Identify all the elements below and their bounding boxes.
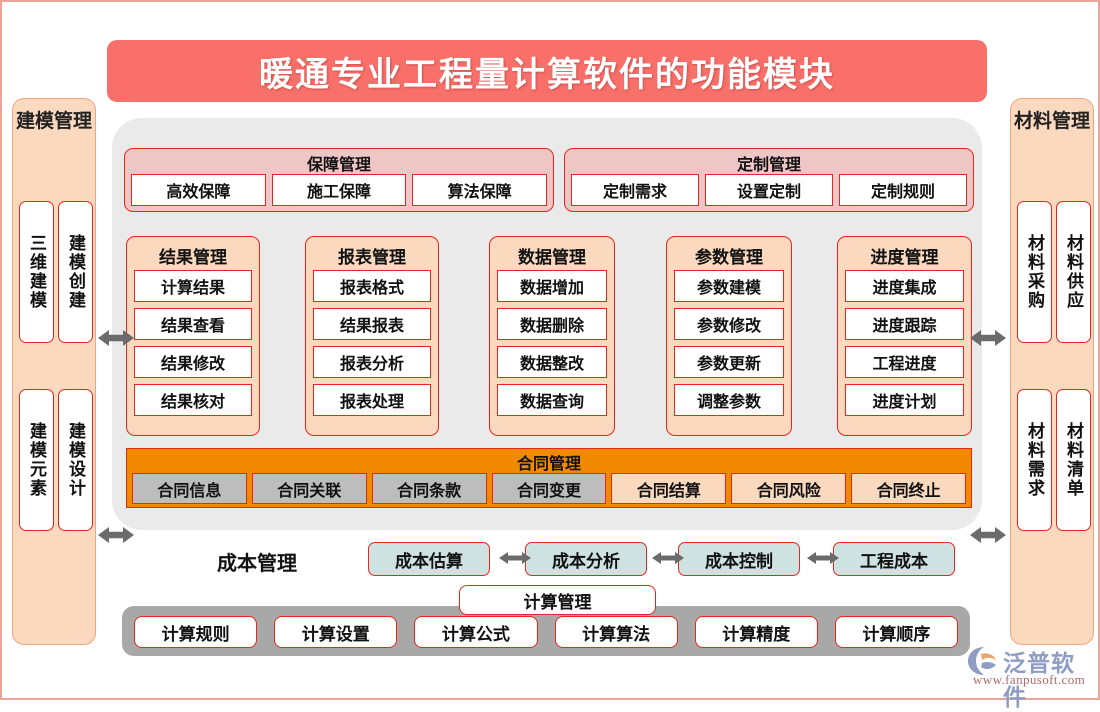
panel-guarantee-title: 保障管理 — [125, 151, 553, 175]
module-parameter-management[interactable]: 参数管理 参数建模 参数修改 参数更新 调整参数 — [666, 236, 792, 436]
item-result-view[interactable]: 结果查看 — [134, 308, 252, 340]
item-progress-tracking[interactable]: 进度跟踪 — [845, 308, 964, 340]
item-set-custom[interactable]: 设置定制 — [705, 174, 833, 206]
sidebar-item-material-demand[interactable]: 材料需求 — [1017, 389, 1052, 531]
module-0-items: 计算结果 结果查看 结果修改 结果核对 — [134, 270, 252, 416]
item-contract-change[interactable]: 合同变更 — [492, 473, 607, 504]
item-param-update[interactable]: 参数更新 — [674, 346, 784, 378]
item-result-check[interactable]: 结果核对 — [134, 384, 252, 416]
module-2-title: 数据管理 — [490, 243, 614, 268]
panel-contract-management[interactable]: 合同管理 合同信息 合同关联 合同条款 合同变更 合同结算 合同风险 合同终止 — [126, 448, 972, 508]
right-bottom-link-arrow-icon — [970, 526, 1006, 544]
item-param-modify[interactable]: 参数修改 — [674, 308, 784, 340]
contract-items: 合同信息 合同关联 合同条款 合同变更 合同结算 合同风险 合同终止 — [132, 473, 966, 504]
sidebar-item-model-create[interactable]: 建模创建 — [58, 201, 93, 343]
sidebar-right-title: 材料管理 — [1011, 111, 1093, 133]
cost-link-arrow-icon — [652, 551, 684, 565]
sidebar-item-3d-modeling[interactable]: 三维建模 — [19, 201, 54, 343]
item-report-process[interactable]: 报表处理 — [313, 384, 431, 416]
brand-logo: 泛普软件 www.fanpusoft.com — [967, 642, 1095, 694]
calc-management-chip[interactable]: 计算管理 — [459, 585, 656, 615]
diagram-root: 暖通专业工程量计算软件的功能模块 建模管理 三维建模 建模创建 建模元素 建模设… — [0, 0, 1100, 700]
module-4-title: 进度管理 — [838, 243, 971, 268]
sidebar-right-top-pair: 材料采购 材料供应 — [1017, 201, 1087, 343]
item-contract-terms[interactable]: 合同条款 — [372, 473, 487, 504]
module-1-items: 报表格式 结果报表 报表分析 报表处理 — [313, 270, 431, 416]
item-contract-info[interactable]: 合同信息 — [132, 473, 247, 504]
item-result-modify[interactable]: 结果修改 — [134, 346, 252, 378]
right-top-link-arrow-icon — [970, 329, 1006, 347]
item-project-cost[interactable]: 工程成本 — [833, 542, 955, 576]
module-2-items: 数据增加 数据删除 数据整改 数据查询 — [497, 270, 607, 416]
sidebar-item-material-supply[interactable]: 材料供应 — [1056, 201, 1091, 343]
item-progress-integration[interactable]: 进度集成 — [845, 270, 964, 302]
cost-management-label: 成本管理 — [192, 547, 322, 576]
module-result-management[interactable]: 结果管理 计算结果 结果查看 结果修改 结果核对 — [126, 236, 260, 436]
item-cost-estimate[interactable]: 成本估算 — [368, 542, 490, 576]
item-contract-relation[interactable]: 合同关联 — [252, 473, 367, 504]
item-calc-setting[interactable]: 计算设置 — [274, 616, 397, 648]
item-calc-rule[interactable]: 计算规则 — [134, 616, 257, 648]
cost-link-arrow-icon — [807, 551, 839, 565]
item-cost-analysis[interactable]: 成本分析 — [525, 542, 647, 576]
panel-guarantee-items: 高效保障 施工保障 算法保障 — [131, 174, 547, 206]
item-contract-settlement[interactable]: 合同结算 — [611, 473, 726, 504]
module-1-title: 报表管理 — [306, 243, 438, 268]
sidebar-modeling-management[interactable]: 建模管理 三维建模 建模创建 建模元素 建模设计 — [12, 98, 96, 645]
item-custom-rule[interactable]: 定制规则 — [839, 174, 967, 206]
sidebar-item-material-list[interactable]: 材料清单 — [1056, 389, 1091, 531]
item-param-model[interactable]: 参数建模 — [674, 270, 784, 302]
item-efficient-guarantee[interactable]: 高效保障 — [131, 174, 266, 206]
panel-customization-title: 定制管理 — [565, 151, 973, 175]
sidebar-item-model-element[interactable]: 建模元素 — [19, 389, 54, 531]
sidebar-left-title: 建模管理 — [13, 111, 95, 133]
item-contract-risk[interactable]: 合同风险 — [731, 473, 846, 504]
module-4-items: 进度集成 进度跟踪 工程进度 进度计划 — [845, 270, 964, 416]
sidebar-material-management[interactable]: 材料管理 材料采购 材料供应 材料需求 材料清单 — [1010, 98, 1094, 645]
item-algorithm-guarantee[interactable]: 算法保障 — [412, 174, 547, 206]
item-cost-control[interactable]: 成本控制 — [678, 542, 800, 576]
sidebar-left-bottom-pair: 建模元素 建模设计 — [19, 389, 89, 531]
module-progress-management[interactable]: 进度管理 进度集成 进度跟踪 工程进度 进度计划 — [837, 236, 972, 436]
brand-url: www.fanpusoft.com — [973, 672, 1085, 688]
item-calc-result[interactable]: 计算结果 — [134, 270, 252, 302]
item-data-query[interactable]: 数据查询 — [497, 384, 607, 416]
item-progress-plan[interactable]: 进度计划 — [845, 384, 964, 416]
module-0-title: 结果管理 — [127, 243, 259, 268]
sidebar-item-material-purchase[interactable]: 材料采购 — [1017, 201, 1052, 343]
panel-guarantee-management[interactable]: 保障管理 高效保障 施工保障 算法保障 — [124, 148, 554, 212]
item-param-adjust[interactable]: 调整参数 — [674, 384, 784, 416]
sidebar-left-top-pair: 三维建模 建模创建 — [19, 201, 89, 343]
item-report-format[interactable]: 报表格式 — [313, 270, 431, 302]
item-contract-termination[interactable]: 合同终止 — [851, 473, 966, 504]
contract-title: 合同管理 — [127, 450, 971, 474]
item-calc-order[interactable]: 计算顺序 — [835, 616, 958, 648]
item-report-analysis[interactable]: 报表分析 — [313, 346, 431, 378]
item-result-report[interactable]: 结果报表 — [313, 308, 431, 340]
item-data-add[interactable]: 数据增加 — [497, 270, 607, 302]
sidebar-right-bottom-pair: 材料需求 材料清单 — [1017, 389, 1087, 531]
item-data-delete[interactable]: 数据删除 — [497, 308, 607, 340]
item-calc-algorithm[interactable]: 计算算法 — [555, 616, 678, 648]
left-bottom-link-arrow-icon — [98, 526, 134, 544]
module-report-management[interactable]: 报表管理 报表格式 结果报表 报表分析 报表处理 — [305, 236, 439, 436]
item-construction-guarantee[interactable]: 施工保障 — [272, 174, 407, 206]
item-calc-formula[interactable]: 计算公式 — [414, 616, 537, 648]
page-title: 暖通专业工程量计算软件的功能模块 — [107, 40, 987, 102]
module-3-items: 参数建模 参数修改 参数更新 调整参数 — [674, 270, 784, 416]
panel-customization-items: 定制需求 设置定制 定制规则 — [571, 174, 967, 206]
cost-link-arrow-icon — [499, 551, 531, 565]
module-3-title: 参数管理 — [667, 243, 791, 268]
item-project-progress[interactable]: 工程进度 — [845, 346, 964, 378]
item-custom-demand[interactable]: 定制需求 — [571, 174, 699, 206]
panel-customization-management[interactable]: 定制管理 定制需求 设置定制 定制规则 — [564, 148, 974, 212]
item-data-rectify[interactable]: 数据整改 — [497, 346, 607, 378]
sidebar-item-model-design[interactable]: 建模设计 — [58, 389, 93, 531]
item-calc-precision[interactable]: 计算精度 — [695, 616, 818, 648]
module-data-management[interactable]: 数据管理 数据增加 数据删除 数据整改 数据查询 — [489, 236, 615, 436]
calc-items: 计算规则 计算设置 计算公式 计算算法 计算精度 计算顺序 — [134, 616, 958, 648]
left-top-link-arrow-icon — [98, 329, 134, 347]
